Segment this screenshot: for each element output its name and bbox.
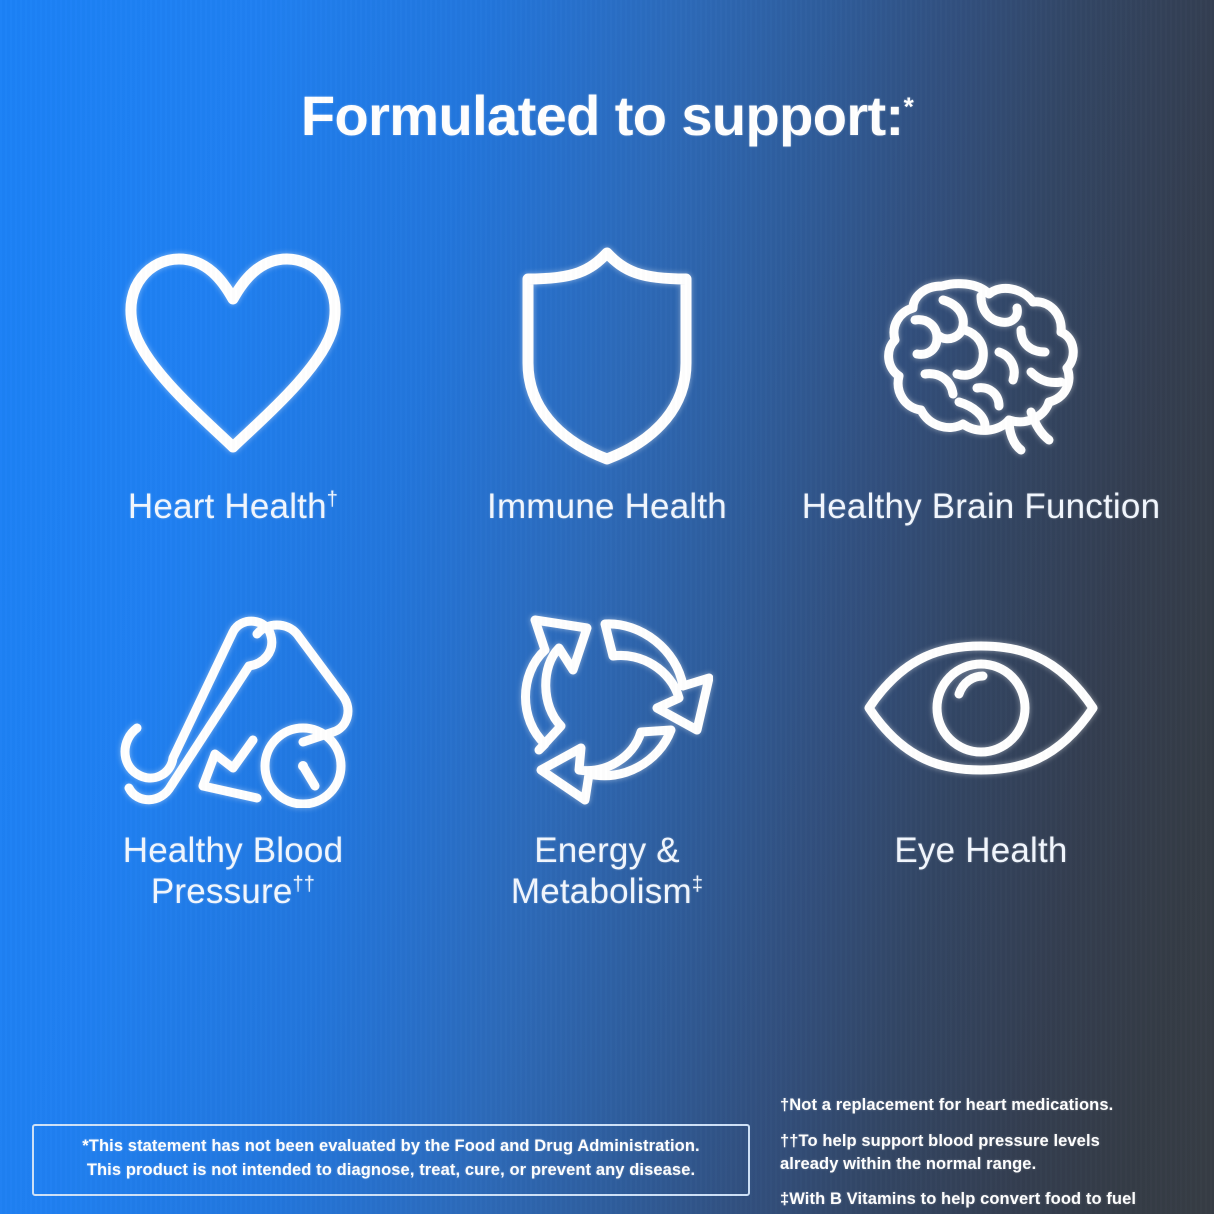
page-title-text: Formulated to support: (301, 84, 904, 147)
footnotes-list: †Not a replacement for heart medications… (780, 1094, 1200, 1211)
benefit-label-superscript: † (327, 488, 338, 510)
benefit-healthy-brain-function: Healthy Brain Function (794, 232, 1168, 584)
benefit-label: Healthy Brain Function (802, 486, 1160, 527)
brain-icon (881, 232, 1081, 480)
footnote-blood-pressure: ††To help support blood pressure levels … (780, 1130, 1200, 1176)
benefit-label: Heart Health† (128, 486, 338, 527)
benefits-grid: Heart Health† Immune Health (46, 232, 1168, 932)
footnote-b-vitamins: ‡With B Vitamins to help convert food to… (780, 1188, 1200, 1211)
benefit-label-superscript: ‡ (692, 874, 703, 896)
benefit-heart-health: Heart Health† (46, 232, 420, 584)
eye-icon (861, 592, 1101, 824)
benefits-infographic: Formulated to support:* Heart Health† Im… (0, 0, 1214, 1214)
benefit-healthy-blood-pressure: Healthy Blood Pressure†† (46, 592, 420, 932)
recycle-arrows-icon (501, 592, 713, 824)
shield-icon (514, 232, 700, 480)
blood-pressure-cuff-icon (107, 592, 359, 824)
benefit-immune-health: Immune Health (420, 232, 794, 584)
heart-icon (117, 232, 349, 480)
page-title: Formulated to support:* (0, 88, 1214, 144)
benefit-eye-health: Eye Health (794, 592, 1168, 932)
benefit-label: Immune Health (487, 486, 727, 527)
page-title-asterisk: * (904, 91, 914, 121)
fda-disclaimer-box: *This statement has not been evaluated b… (32, 1124, 750, 1196)
footnote-heart-medications: †Not a replacement for heart medications… (780, 1094, 1200, 1117)
benefit-label-superscript: †† (292, 874, 315, 896)
benefit-label: Eye Health (894, 830, 1067, 871)
benefit-label: Healthy Blood Pressure†† (123, 830, 344, 913)
benefit-label: Energy & Metabolism‡ (511, 830, 703, 913)
benefit-energy-metabolism: Energy & Metabolism‡ (420, 592, 794, 932)
